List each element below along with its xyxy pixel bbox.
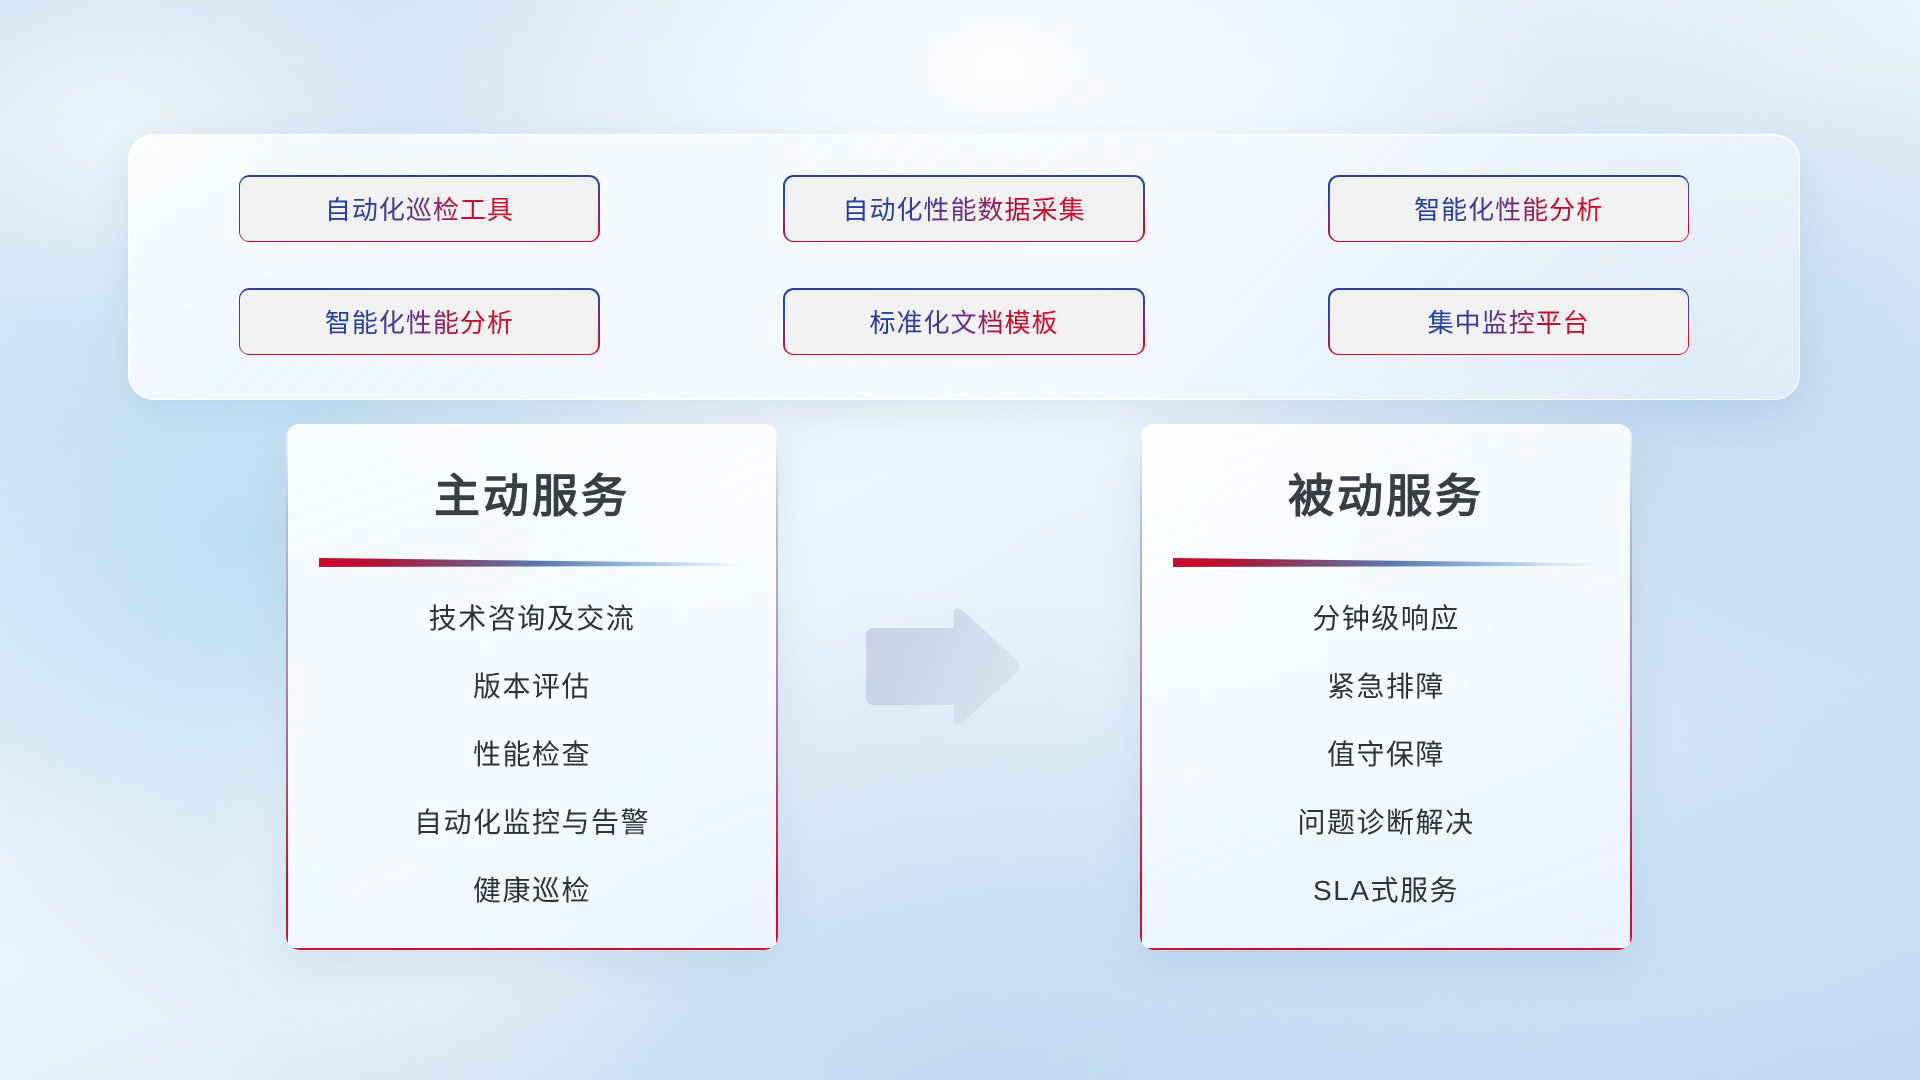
list-item: 技术咨询及交流 xyxy=(429,597,636,637)
capability-tag-button[interactable]: 自动化性能数据采集 xyxy=(785,177,1143,241)
capability-tag-button[interactable]: 集中监控平台 xyxy=(1330,290,1688,354)
card-bottom-rail xyxy=(286,948,778,950)
capabilities-panel: 自动化巡检工具 自动化性能数据采集 智能化性能分析 智能化性能分析 标准化文档模… xyxy=(128,134,1800,400)
list-item: 值守保障 xyxy=(1327,733,1445,773)
card-right-rail xyxy=(1630,424,1632,950)
divider-wedge xyxy=(319,558,745,567)
list-item: 紧急排障 xyxy=(1327,665,1445,705)
capability-tag-label: 智能化性能分析 xyxy=(1414,190,1603,227)
list-item: 自动化监控与告警 xyxy=(414,801,650,841)
list-item: 健康巡检 xyxy=(473,869,591,909)
capability-tag-button[interactable]: 自动化巡检工具 xyxy=(240,177,598,241)
arrow-right-icon xyxy=(862,606,1022,728)
card-divider xyxy=(1173,558,1599,567)
service-card-reactive: 被动服务 分钟级响应 紧急排障 值守保障 问题诊断解决 SLA式服务 xyxy=(1140,424,1632,950)
card-right-rail xyxy=(776,424,778,950)
card-divider xyxy=(319,558,745,567)
capability-tag-label: 自动化巡检工具 xyxy=(325,190,514,227)
capability-tag-label: 自动化性能数据采集 xyxy=(842,190,1085,227)
capability-tag-button[interactable]: 智能化性能分析 xyxy=(240,290,598,354)
card-bottom-rail xyxy=(1140,948,1632,950)
list-item: SLA式服务 xyxy=(1313,869,1459,909)
capability-tag-grid: 自动化巡检工具 自动化性能数据采集 智能化性能分析 智能化性能分析 标准化文档模… xyxy=(129,135,1799,399)
service-item-list: 分钟级响应 紧急排障 值守保障 问题诊断解决 SLA式服务 xyxy=(1140,597,1632,909)
service-card-proactive: 主动服务 技术咨询及交流 版本评估 性能检查 自动化监控与告警 健康巡检 xyxy=(286,424,778,950)
service-item-list: 技术咨询及交流 版本评估 性能检查 自动化监控与告警 健康巡检 xyxy=(286,597,778,909)
list-item: 版本评估 xyxy=(473,665,591,705)
card-title: 被动服务 xyxy=(1140,460,1632,526)
list-item: 问题诊断解决 xyxy=(1297,801,1474,841)
card-left-rail xyxy=(286,424,288,950)
list-item: 分钟级响应 xyxy=(1312,597,1460,637)
capability-tag-label: 智能化性能分析 xyxy=(325,303,514,340)
slide-canvas: 自动化巡检工具 自动化性能数据采集 智能化性能分析 智能化性能分析 标准化文档模… xyxy=(0,0,1920,1080)
card-title: 主动服务 xyxy=(286,460,778,526)
card-left-rail xyxy=(1140,424,1142,950)
list-item: 性能检查 xyxy=(473,733,591,773)
capability-tag-button[interactable]: 智能化性能分析 xyxy=(1330,177,1688,241)
capability-tag-label: 标准化文档模板 xyxy=(869,303,1058,340)
divider-wedge xyxy=(1173,558,1599,567)
capability-tag-button[interactable]: 标准化文档模板 xyxy=(785,290,1143,354)
capability-tag-label: 集中监控平台 xyxy=(1428,303,1590,340)
